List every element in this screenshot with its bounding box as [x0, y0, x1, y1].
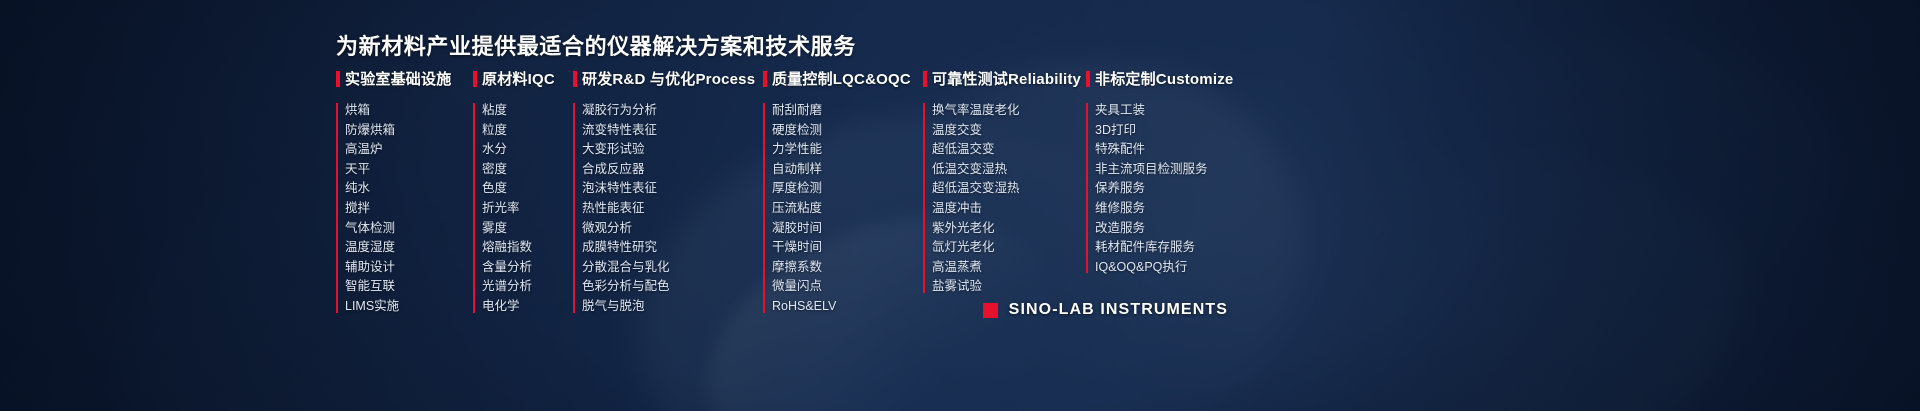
service-column-reliability: 可靠性测试Reliability 换气率温度老化 温度交变 超低温交变 低温交变…: [923, 68, 1086, 297]
list-item[interactable]: 超低温交变湿热: [932, 179, 1086, 199]
column-header: 原材料IQC: [473, 68, 573, 89]
header-accent-bar-icon: [763, 71, 767, 87]
list-item[interactable]: 粘度: [482, 101, 573, 121]
list-item[interactable]: 厚度检测: [772, 179, 923, 199]
list-item[interactable]: 温度冲击: [932, 199, 1086, 219]
column-header-label: 非标定制Customize: [1095, 68, 1233, 89]
column-item-list: 耐刮耐磨 硬度检测 力学性能 自动制样 厚度检测 压流粘度 凝胶时间 干燥时间 …: [772, 101, 923, 317]
column-item-list: 夹具工装 3D打印 特殊配件 非主流项目检测服务 保养服务 维修服务 改造服务 …: [1095, 101, 1286, 277]
page-title: 为新材料产业提供最适合的仪器解决方案和技术服务: [336, 29, 856, 61]
list-item[interactable]: 压流粘度: [772, 199, 923, 219]
list-item[interactable]: 含量分析: [482, 258, 573, 278]
list-item[interactable]: 成膜特性研究: [582, 238, 763, 258]
column-body: 粘度 粒度 水分 密度 色度 折光率 雾度 熔融指数 含量分析 光谱分析 电化学: [473, 101, 573, 317]
list-item[interactable]: 脱气与脱泡: [582, 297, 763, 317]
list-item[interactable]: 保养服务: [1095, 179, 1286, 199]
column-header: 实验室基础设施: [336, 68, 473, 89]
list-item[interactable]: 氙灯光老化: [932, 238, 1086, 258]
column-header-label: 实验室基础设施: [345, 68, 451, 89]
column-accent-rule-icon: [923, 103, 925, 293]
column-body: 凝胶行为分析 流变特性表征 大变形试验 合成反应器 泡沫特性表征 热性能表征 微…: [573, 101, 763, 317]
column-item-list: 凝胶行为分析 流变特性表征 大变形试验 合成反应器 泡沫特性表征 热性能表征 微…: [582, 101, 763, 317]
list-item[interactable]: 纯水: [345, 179, 473, 199]
brand-logo: SINO-LAB INSTRUMENTS: [983, 301, 1228, 319]
list-item[interactable]: 非主流项目检测服务: [1095, 160, 1286, 180]
column-header-label: 原材料IQC: [482, 68, 555, 89]
list-item[interactable]: IQ&OQ&PQ执行: [1095, 258, 1286, 278]
list-item[interactable]: 力学性能: [772, 140, 923, 160]
list-item[interactable]: 泡沫特性表征: [582, 179, 763, 199]
column-accent-rule-icon: [573, 103, 575, 313]
list-item[interactable]: 微量闪点: [772, 277, 923, 297]
column-header-label: 可靠性测试Reliability: [932, 68, 1081, 89]
list-item[interactable]: 水分: [482, 140, 573, 160]
list-item[interactable]: 硬度检测: [772, 121, 923, 141]
column-body: 换气率温度老化 温度交变 超低温交变 低温交变湿热 超低温交变湿热 温度冲击 紫…: [923, 101, 1086, 297]
column-header-label: 研发R&D 与优化Process: [582, 68, 755, 89]
list-item[interactable]: 大变形试验: [582, 140, 763, 160]
list-item[interactable]: RoHS&ELV: [772, 297, 923, 317]
column-item-list: 换气率温度老化 温度交变 超低温交变 低温交变湿热 超低温交变湿热 温度冲击 紫…: [932, 101, 1086, 297]
column-body: 耐刮耐磨 硬度检测 力学性能 自动制样 厚度检测 压流粘度 凝胶时间 干燥时间 …: [763, 101, 923, 317]
list-item[interactable]: 搅拌: [345, 199, 473, 219]
square-mark-icon: [983, 303, 998, 318]
list-item[interactable]: 微观分析: [582, 219, 763, 239]
service-column-lab-infrastructure: 实验室基础设施 烘箱 防爆烘箱 高温炉 天平 纯水 搅拌 气体检测 温度湿度 辅…: [336, 68, 473, 317]
service-columns: 实验室基础设施 烘箱 防爆烘箱 高温炉 天平 纯水 搅拌 气体检测 温度湿度 辅…: [336, 68, 1286, 317]
list-item[interactable]: 耗材配件库存服务: [1095, 238, 1286, 258]
list-item[interactable]: 分散混合与乳化: [582, 258, 763, 278]
column-accent-rule-icon: [473, 103, 475, 313]
list-item[interactable]: 温度湿度: [345, 238, 473, 258]
list-item[interactable]: 电化学: [482, 297, 573, 317]
list-item[interactable]: 防爆烘箱: [345, 121, 473, 141]
list-item[interactable]: 雾度: [482, 219, 573, 239]
list-item[interactable]: 改造服务: [1095, 219, 1286, 239]
list-item[interactable]: 凝胶行为分析: [582, 101, 763, 121]
list-item[interactable]: 烘箱: [345, 101, 473, 121]
list-item[interactable]: 超低温交变: [932, 140, 1086, 160]
banner-root: 为新材料产业提供最适合的仪器解决方案和技术服务 实验室基础设施 烘箱 防爆烘箱 …: [0, 0, 1920, 411]
list-item[interactable]: 光谱分析: [482, 277, 573, 297]
list-item[interactable]: 粒度: [482, 121, 573, 141]
list-item[interactable]: 气体检测: [345, 219, 473, 239]
column-item-list: 烘箱 防爆烘箱 高温炉 天平 纯水 搅拌 气体检测 温度湿度 辅助设计 智能互联…: [345, 101, 473, 317]
list-item[interactable]: 紫外光老化: [932, 219, 1086, 239]
header-accent-bar-icon: [336, 71, 340, 87]
list-item[interactable]: 密度: [482, 160, 573, 180]
header-accent-bar-icon: [573, 71, 577, 87]
list-item[interactable]: 熔融指数: [482, 238, 573, 258]
list-item[interactable]: 盐雾试验: [932, 277, 1086, 297]
column-body: 烘箱 防爆烘箱 高温炉 天平 纯水 搅拌 气体检测 温度湿度 辅助设计 智能互联…: [336, 101, 473, 317]
list-item[interactable]: 热性能表征: [582, 199, 763, 219]
column-accent-rule-icon: [336, 103, 338, 313]
list-item[interactable]: 自动制样: [772, 160, 923, 180]
service-column-customize: 非标定制Customize 夹具工装 3D打印 特殊配件 非主流项目检测服务 保…: [1086, 68, 1286, 277]
list-item[interactable]: 特殊配件: [1095, 140, 1286, 160]
column-header: 可靠性测试Reliability: [923, 68, 1086, 89]
service-column-raw-material-iqc: 原材料IQC 粘度 粒度 水分 密度 色度 折光率 雾度 熔融指数 含量分析 光: [473, 68, 573, 317]
list-item[interactable]: 凝胶时间: [772, 219, 923, 239]
list-item[interactable]: 智能互联: [345, 277, 473, 297]
list-item[interactable]: 3D打印: [1095, 121, 1286, 141]
list-item[interactable]: LIMS实施: [345, 297, 473, 317]
header-accent-bar-icon: [923, 71, 927, 87]
column-header: 研发R&D 与优化Process: [573, 68, 763, 89]
column-body: 夹具工装 3D打印 特殊配件 非主流项目检测服务 保养服务 维修服务 改造服务 …: [1086, 101, 1286, 277]
list-item[interactable]: 换气率温度老化: [932, 101, 1086, 121]
list-item[interactable]: 高温炉: [345, 140, 473, 160]
list-item[interactable]: 温度交变: [932, 121, 1086, 141]
service-column-quality-control: 质量控制LQC&OQC 耐刮耐磨 硬度检测 力学性能 自动制样 厚度检测 压流粘…: [763, 68, 923, 317]
list-item[interactable]: 高温蒸煮: [932, 258, 1086, 278]
service-column-rd-process: 研发R&D 与优化Process 凝胶行为分析 流变特性表征 大变形试验 合成反…: [573, 68, 763, 317]
list-item[interactable]: 色度: [482, 179, 573, 199]
list-item[interactable]: 耐刮耐磨: [772, 101, 923, 121]
list-item[interactable]: 辅助设计: [345, 258, 473, 278]
list-item[interactable]: 干燥时间: [772, 238, 923, 258]
banner-content: 为新材料产业提供最适合的仪器解决方案和技术服务 实验室基础设施 烘箱 防爆烘箱 …: [0, 0, 1920, 411]
list-item[interactable]: 色彩分析与配色: [582, 277, 763, 297]
column-accent-rule-icon: [763, 103, 765, 313]
column-header-label: 质量控制LQC&OQC: [772, 68, 911, 89]
header-accent-bar-icon: [1086, 71, 1090, 87]
list-item[interactable]: 流变特性表征: [582, 121, 763, 141]
list-item[interactable]: 夹具工装: [1095, 101, 1286, 121]
list-item[interactable]: 维修服务: [1095, 199, 1286, 219]
list-item[interactable]: 合成反应器: [582, 160, 763, 180]
brand-name: SINO-LAB INSTRUMENTS: [1009, 301, 1228, 319]
column-header: 非标定制Customize: [1086, 68, 1286, 89]
column-accent-rule-icon: [1086, 103, 1088, 273]
list-item[interactable]: 折光率: [482, 199, 573, 219]
list-item[interactable]: 低温交变湿热: [932, 160, 1086, 180]
column-header: 质量控制LQC&OQC: [763, 68, 923, 89]
column-item-list: 粘度 粒度 水分 密度 色度 折光率 雾度 熔融指数 含量分析 光谱分析 电化学: [482, 101, 573, 317]
list-item[interactable]: 天平: [345, 160, 473, 180]
list-item[interactable]: 摩擦系数: [772, 258, 923, 278]
header-accent-bar-icon: [473, 71, 477, 87]
